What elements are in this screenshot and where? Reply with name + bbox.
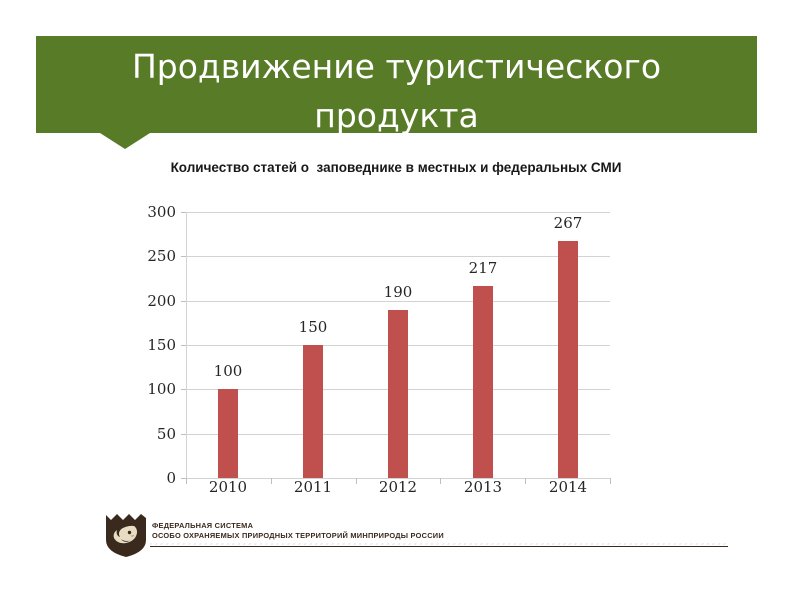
gridline [186, 212, 610, 213]
bar-value-label: 217 [448, 261, 518, 276]
y-axis-tick [181, 256, 186, 257]
bar-value-label: 100 [193, 364, 263, 379]
gridline [186, 256, 610, 257]
x-axis-label: 2011 [273, 480, 353, 495]
chart-title: Количество статей о заповеднике в местны… [0, 160, 792, 175]
y-axis-label: 50 [120, 427, 176, 442]
y-axis-label: 200 [120, 294, 176, 309]
chart-plot-area [186, 212, 610, 478]
bar [388, 310, 408, 478]
gridline [186, 301, 610, 302]
x-axis-tick [610, 478, 611, 484]
footer-rule-texture [150, 543, 728, 545]
y-axis-tick [181, 389, 186, 390]
y-axis-label: 100 [120, 382, 176, 397]
x-axis-label: 2013 [443, 480, 523, 495]
bar [303, 345, 323, 478]
y-axis-tick [181, 434, 186, 435]
slide-title-banner: Продвижение туристического продукта [36, 36, 757, 133]
x-axis-tick [271, 478, 272, 484]
y-axis-tick [181, 212, 186, 213]
bear-shield-logo [104, 512, 148, 558]
footer-line-2: ОСОБО ОХРАНЯЕМЫХ ПРИРОДНЫХ ТЕРРИТОРИЙ МИ… [152, 531, 444, 541]
x-axis-tick [440, 478, 441, 484]
x-axis-tick [525, 478, 526, 484]
bar-value-label: 190 [363, 285, 433, 300]
y-axis-label: 150 [120, 338, 176, 353]
x-axis-label: 2010 [188, 480, 268, 495]
y-axis-label: 300 [120, 205, 176, 220]
title-banner-notch [100, 133, 150, 149]
page-title: Продвижение туристического продукта [36, 42, 757, 133]
bar [218, 389, 238, 478]
footer-divider [150, 546, 728, 547]
bar-chart: 050100150200250300 20102011201220132014 … [120, 196, 640, 516]
x-axis-tick [186, 478, 187, 484]
bar [558, 241, 578, 478]
y-axis-tick [181, 301, 186, 302]
y-axis-tick [181, 345, 186, 346]
footer-line-1: ФЕДЕРАЛЬНАЯ СИСТЕМА [152, 521, 444, 531]
x-axis-label: 2014 [528, 480, 608, 495]
x-axis-label: 2012 [358, 480, 438, 495]
bar-value-label: 267 [533, 216, 603, 231]
x-axis-tick [356, 478, 357, 484]
bar [473, 286, 493, 478]
y-axis-label: 250 [120, 249, 176, 264]
bar-value-label: 150 [278, 320, 348, 335]
y-axis-label: 0 [120, 471, 176, 486]
footer-organization-text: ФЕДЕРАЛЬНАЯ СИСТЕМА ОСОБО ОХРАНЯЕМЫХ ПРИ… [152, 521, 444, 541]
